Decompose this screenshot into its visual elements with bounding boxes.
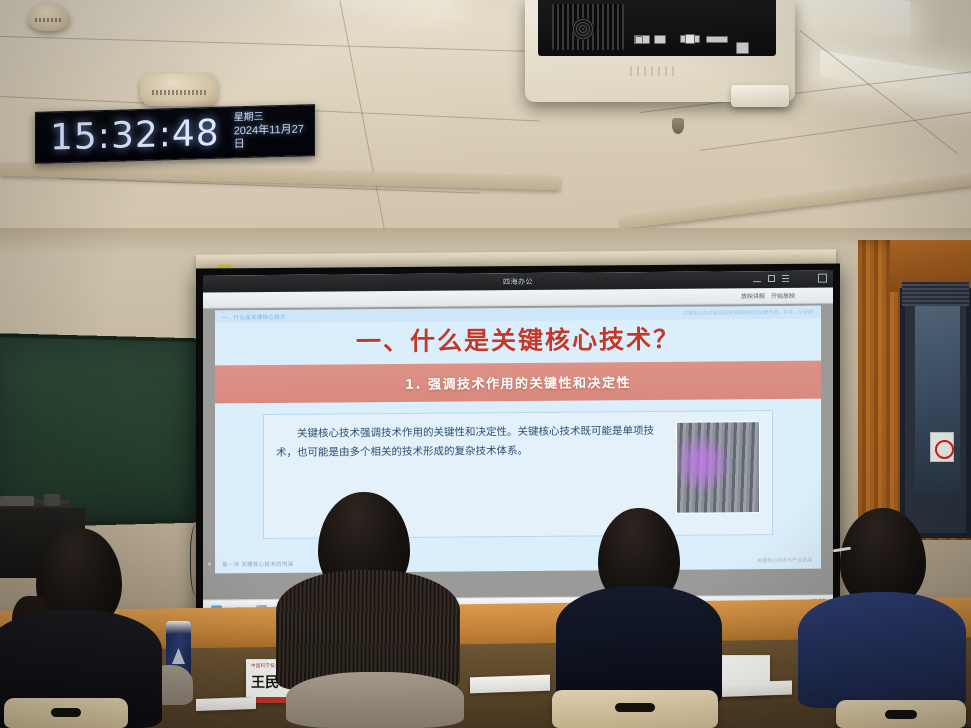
ceiling-beam (621, 174, 971, 229)
projector-cable (675, 0, 729, 14)
door-transom-vent (902, 282, 969, 306)
layout-icon[interactable] (818, 274, 827, 283)
smoke-detector (140, 73, 218, 106)
classroom-photo-scene: 15:32:48 星期三 2024年11月27日 ····· 四海办公 (0, 0, 971, 728)
bottle-cap (166, 621, 191, 634)
toolbar-item-present[interactable]: 放映讲解 (741, 291, 765, 300)
ceiling-tile-seam (700, 108, 971, 151)
slide-footer-left: 第一讲 关键核心技术的内涵 (222, 560, 293, 569)
app-window-title: 四海办公 (503, 276, 533, 286)
slide-top-note: 关键核心技术是指在关键领域中起关键作用，并且，从全局 (683, 309, 813, 317)
presentation-app-window: 四海办公 放映讲解 开始放映 一、什么是关键核 (203, 271, 833, 622)
classroom-door[interactable] (900, 288, 971, 538)
projector-fan-grille (572, 18, 594, 40)
slide-stage: 一、什么是关键核心技术 关键核心技术是指在关键领域中起关键作用，并且，从全局 一… (203, 304, 833, 600)
slide-title: 一、什么是关键核心技术？ (215, 319, 821, 360)
ceiling-light-panel (820, 51, 971, 104)
projector-lan-port (736, 42, 749, 54)
ceiling: 15:32:48 星期三 2024年11月27日 (0, 0, 971, 250)
no-smoking-sign (930, 432, 954, 462)
menu-icon[interactable] (782, 275, 789, 282)
paper-stack (196, 697, 256, 711)
wall-digital-clock: 15:32:48 星期三 2024年11月27日 (35, 104, 315, 164)
projection-screen: 四海办公 放映讲解 开始放映 一、什么是关键核 (196, 263, 840, 628)
attendee-3-chair (552, 690, 718, 728)
clock-time: 15:32:48 (50, 112, 220, 158)
minimize-icon[interactable] (753, 281, 761, 282)
slide-subtitle-band: 1. 强调技术作用的关键性和决定性 (215, 361, 821, 404)
ceiling-tile-seam (340, 0, 389, 246)
slide-subtitle: 1. 强调技术作用的关键性和决定性 (405, 372, 631, 393)
ceiling-projector (525, 0, 795, 102)
clock-date-group: 星期三 2024年11月27日 (234, 110, 314, 152)
slide-illustration-image (676, 421, 760, 514)
smoke-detector (28, 3, 70, 31)
projector-vent-dots (630, 66, 676, 76)
maximize-icon[interactable] (768, 275, 775, 282)
presentation-slide: 一、什么是关键核心技术 关键核心技术是指在关键领域中起关键作用，并且，从全局 一… (215, 306, 821, 574)
slide-breadcrumb: 一、什么是关键核心技术 (222, 313, 286, 322)
door-glass (915, 301, 960, 493)
slide-footer-right: 关键核心技术与产业发展 (757, 557, 812, 564)
stage-marker (208, 562, 211, 565)
attendee-4-chair (836, 700, 966, 728)
paper-stack (470, 675, 550, 694)
shelf-object (44, 494, 60, 506)
toolbar-item-start-show[interactable]: 开始放映 (771, 291, 795, 300)
attendee-2-coat-on-chair (286, 672, 464, 728)
projector-port (685, 34, 695, 44)
attendee-4-torso (798, 592, 966, 708)
projector-lens (731, 85, 789, 107)
window-controls[interactable] (753, 275, 789, 282)
fire-sprinkler-head (672, 118, 684, 134)
ceiling-light-panel (300, 0, 450, 7)
clock-date: 2024年11月27日 (234, 123, 314, 153)
attendee-3-torso (556, 586, 722, 706)
name-card-name: 王民 (251, 672, 279, 692)
projector-port (654, 35, 666, 44)
attendee-1-chair (4, 698, 128, 728)
projector-port (706, 36, 728, 43)
ceiling-tile-seam (0, 36, 540, 52)
projected-image: 四海办公 放映讲解 开始放映 一、什么是关键核 (203, 271, 833, 622)
shelf-object (0, 496, 34, 506)
roller-brand-label: ····· (792, 254, 802, 260)
projector-port (635, 36, 643, 44)
